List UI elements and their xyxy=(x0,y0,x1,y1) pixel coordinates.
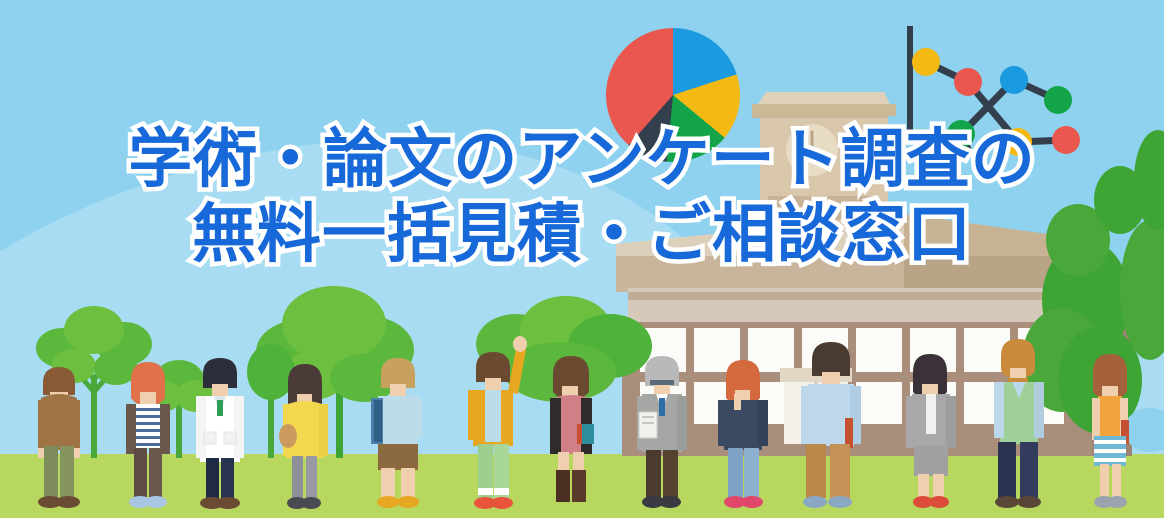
person-doctor-white-coat xyxy=(196,358,244,509)
person-woman-grey-suit xyxy=(906,354,956,508)
person-man-green-vest xyxy=(994,339,1044,508)
person-man-brown-jacket xyxy=(38,367,80,508)
person-student-with-backpack xyxy=(371,358,422,508)
person-man-blue-shirt-book xyxy=(801,342,861,508)
person-raising-hand xyxy=(468,336,527,509)
person-woman-striped-shirt xyxy=(126,362,170,508)
person-woman-navy-top xyxy=(718,360,768,508)
person-woman-striped-skirt xyxy=(1092,354,1129,508)
person-elderly-man-with-clipboard xyxy=(637,356,687,508)
banner-hero: 学術・論文のアンケート調査の 無料一括見積・ご相談窓口 xyxy=(0,0,1164,518)
people-layer xyxy=(0,0,1164,518)
person-woman-yellow-coat xyxy=(279,364,328,509)
person-woman-pink-dress xyxy=(550,356,594,502)
